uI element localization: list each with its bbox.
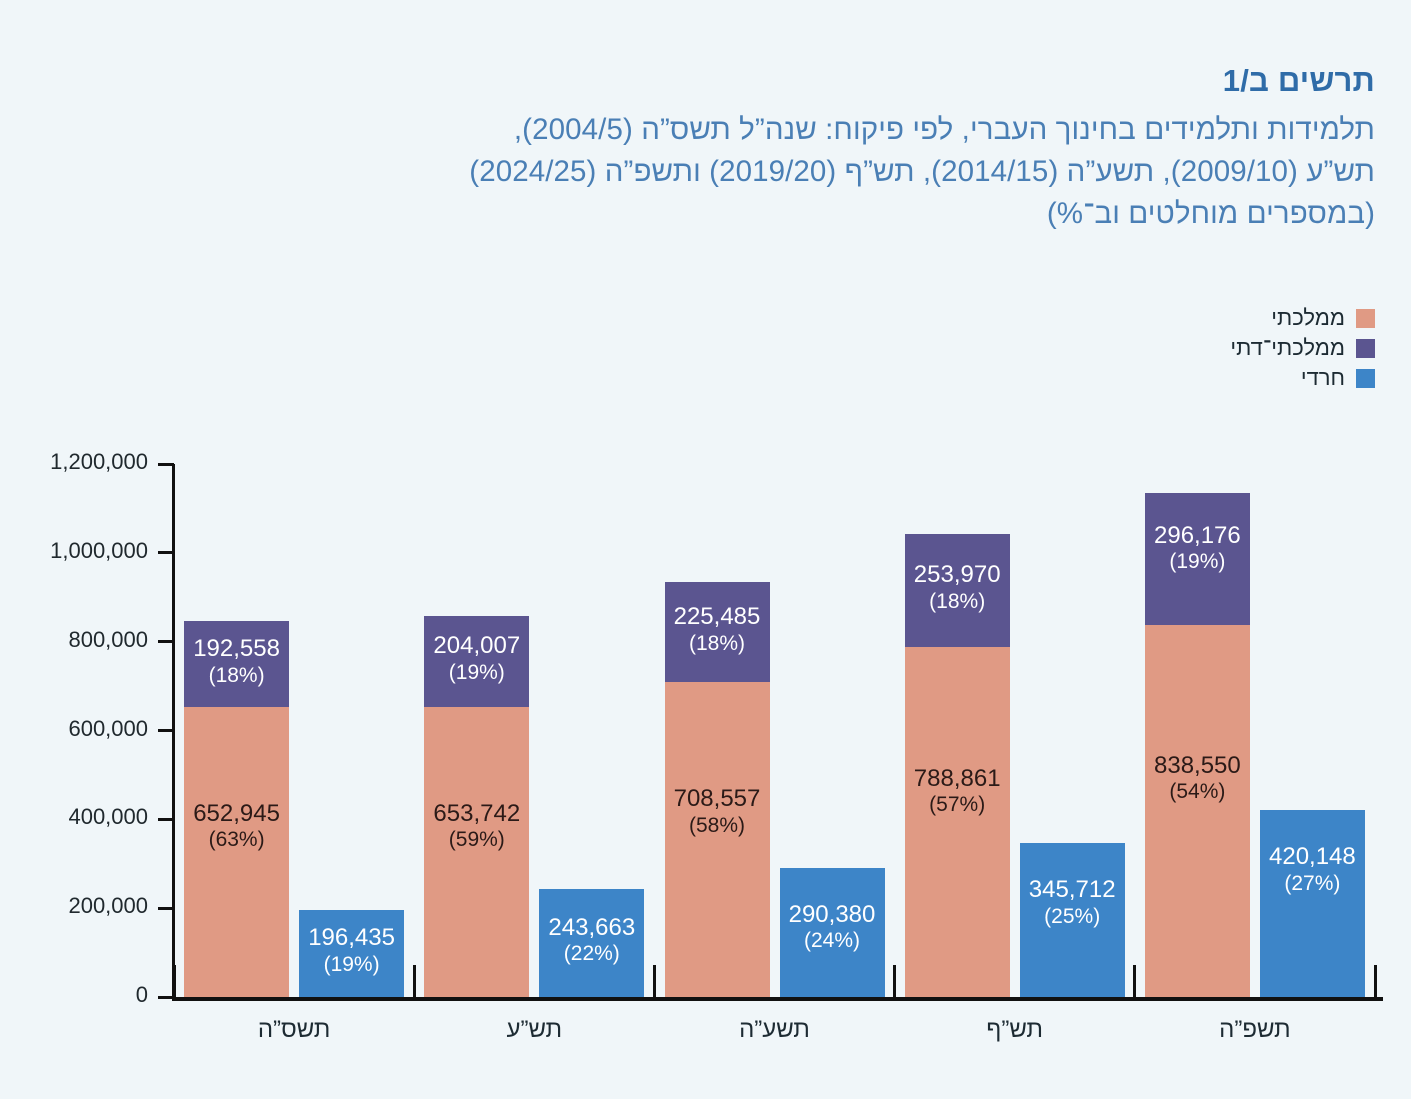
bar-value: 225,485: [653, 603, 782, 631]
chart-number: תרשים ב/1: [36, 62, 1375, 101]
bar-haredi[interactable]: [539, 889, 644, 997]
bar-percent: (57%): [893, 793, 1022, 818]
bar-percent: (22%): [527, 942, 656, 967]
y-axis-line: [172, 464, 175, 1001]
y-axis-tick-label: 800,000: [0, 627, 148, 653]
bar-mamlachti-dati[interactable]: [905, 534, 1010, 647]
bar-percent: (58%): [653, 814, 782, 839]
bar-label-mamlachti-dati: 253,970(18%): [893, 561, 1022, 614]
bar-percent: (25%): [1008, 905, 1137, 930]
bar-mamlachti[interactable]: [665, 682, 770, 997]
x-axis-group-tick: [413, 965, 416, 999]
title-line-1: תלמידות ותלמידים בחינוך העברי, לפי פיקוח…: [36, 109, 1375, 151]
bar-haredi[interactable]: [1020, 843, 1125, 997]
bar-value: 708,557: [653, 785, 782, 813]
bar-mamlachti-dati[interactable]: [184, 621, 289, 707]
y-axis-tick-label: 1,200,000: [0, 449, 148, 475]
x-axis-group-tick: [1374, 965, 1377, 999]
bar-mamlachti[interactable]: [1145, 625, 1250, 997]
legend-item-haredi[interactable]: חרדי: [1230, 363, 1375, 393]
bar-value: 204,007: [412, 632, 541, 660]
bar-percent: (19%): [287, 953, 416, 978]
legend-swatch-haredi: [1356, 369, 1375, 388]
bar-mamlachti-dati[interactable]: [424, 616, 529, 707]
y-axis-tick: [158, 640, 174, 643]
legend-swatch-mamlachti: [1356, 309, 1375, 328]
legend-label-haredi: חרדי: [1301, 367, 1345, 389]
bar-percent: (19%): [1133, 550, 1262, 575]
x-axis-group-tick: [653, 965, 656, 999]
bar-mamlachti[interactable]: [184, 707, 289, 997]
y-axis-tick: [158, 818, 174, 821]
bar-label-haredi: 345,712(25%): [1008, 876, 1137, 929]
legend-label-mamlachti-dati: ממלכתי־דתי: [1230, 337, 1345, 359]
bar-percent: (54%): [1133, 780, 1262, 805]
bar-value: 652,945: [172, 800, 301, 828]
bar-percent: (18%): [172, 664, 301, 689]
bar-label-mamlachti: 788,861(57%): [893, 765, 1022, 818]
legend-swatch-mamlachti-dati: [1356, 339, 1375, 358]
bar-label-mamlachti-dati: 192,558(18%): [172, 635, 301, 688]
bar-value: 192,558: [172, 635, 301, 663]
bar-mamlachti-dati[interactable]: [665, 582, 770, 682]
bar-value: 838,550: [1133, 752, 1262, 780]
bar-value: 196,435: [287, 924, 416, 952]
bar-percent: (63%): [172, 828, 301, 853]
chart-page: תרשים ב/1 תלמידות ותלמידים בחינוך העברי,…: [0, 0, 1411, 1099]
bar-label-mamlachti: 652,945(63%): [172, 800, 301, 853]
bar-value: 653,742: [412, 800, 541, 828]
bar-label-mamlachti: 653,742(59%): [412, 800, 541, 853]
y-axis-tick: [158, 907, 174, 910]
bar-haredi[interactable]: [299, 910, 404, 997]
y-axis-tick-label: 1,000,000: [0, 538, 148, 564]
bar-value: 290,380: [768, 901, 897, 929]
y-axis-tick: [158, 463, 174, 466]
bar-label-mamlachti: 708,557(58%): [653, 785, 782, 838]
chart-legend: ממלכתי ממלכתי־דתי חרדי: [1230, 303, 1375, 393]
legend-label-mamlachti: ממלכתי: [1271, 307, 1345, 329]
bar-label-mamlachti-dati: 225,485(18%): [653, 603, 782, 656]
x-axis-category-label: תשפ”ה: [1135, 1016, 1375, 1044]
bar-value: 243,663: [527, 914, 656, 942]
bar-label-haredi: 290,380(24%): [768, 901, 897, 954]
bar-label-haredi: 420,148(27%): [1248, 843, 1377, 896]
y-axis-tick-label: 400,000: [0, 804, 148, 830]
bar-mamlachti-dati[interactable]: [1145, 493, 1250, 625]
bar-label-mamlachti: 838,550(54%): [1133, 752, 1262, 805]
y-axis-tick: [158, 551, 174, 554]
bar-value: 345,712: [1008, 876, 1137, 904]
bar-value: 420,148: [1248, 843, 1377, 871]
bar-percent: (59%): [412, 828, 541, 853]
x-axis-group-tick: [893, 965, 896, 999]
bar-percent: (18%): [893, 590, 1022, 615]
page-title: תלמידות ותלמידים בחינוך העברי, לפי פיקוח…: [36, 109, 1375, 235]
y-axis-tick: [158, 996, 174, 999]
legend-item-mamlachti-dati[interactable]: ממלכתי־דתי: [1230, 333, 1375, 363]
y-axis-tick-label: 0: [0, 982, 148, 1008]
y-axis-tick-label: 200,000: [0, 893, 148, 919]
header-block: תרשים ב/1 תלמידות ותלמידים בחינוך העברי,…: [36, 62, 1375, 234]
bar-label-haredi: 196,435(19%): [287, 924, 416, 977]
title-line-3: (במספרים מוחלטים וב־%): [36, 193, 1375, 235]
x-axis-category-label: תשס”ה: [174, 1016, 414, 1044]
bar-haredi[interactable]: [780, 868, 885, 997]
legend-item-mamlachti[interactable]: ממלכתי: [1230, 303, 1375, 333]
bar-value: 253,970: [893, 561, 1022, 589]
bar-label-mamlachti-dati: 296,176(19%): [1133, 522, 1262, 575]
y-axis-tick: [158, 729, 174, 732]
bar-percent: (19%): [412, 661, 541, 686]
bar-mamlachti[interactable]: [424, 707, 529, 997]
bar-value: 788,861: [893, 765, 1022, 793]
bar-percent: (18%): [653, 632, 782, 657]
bar-percent: (24%): [768, 929, 897, 954]
x-axis-group-tick: [1133, 965, 1136, 999]
bar-haredi[interactable]: [1260, 810, 1365, 997]
x-axis-category-label: תש”ע: [414, 1016, 654, 1044]
title-line-2: תש”ע (2009/10), תשע”ה (2014/15), תש”ף (2…: [36, 151, 1375, 193]
bar-label-mamlachti-dati: 204,007(19%): [412, 632, 541, 685]
bar-percent: (27%): [1248, 872, 1377, 897]
y-axis-tick-label: 600,000: [0, 716, 148, 742]
x-axis-category-label: תשע”ה: [654, 1016, 894, 1044]
bar-value: 296,176: [1133, 522, 1262, 550]
bar-label-haredi: 243,663(22%): [527, 914, 656, 967]
bar-mamlachti[interactable]: [905, 647, 1010, 997]
x-axis-line: [172, 997, 1383, 1001]
x-axis-group-tick: [173, 965, 176, 999]
x-axis-category-label: תש”ף: [895, 1016, 1135, 1044]
